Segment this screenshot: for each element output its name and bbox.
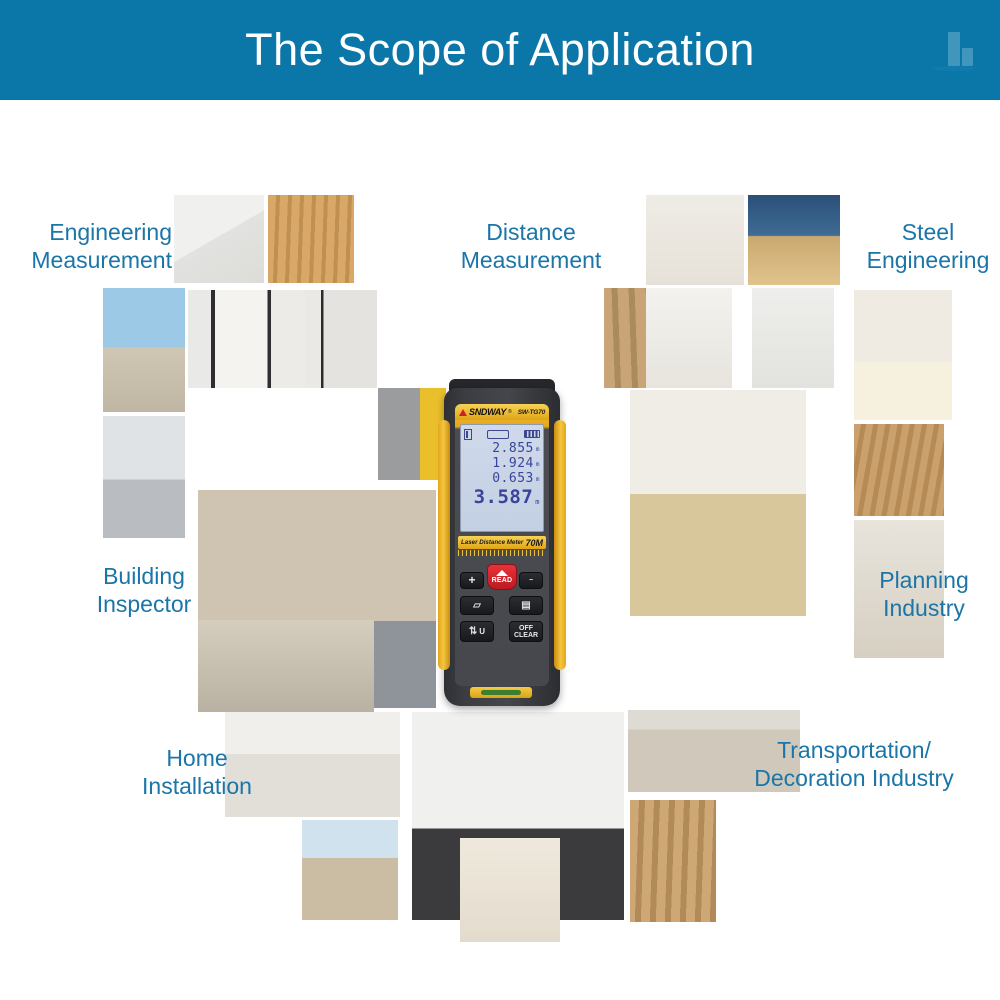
photo-worker-truss-outdoors: [103, 288, 185, 412]
device-brand-bar: SNDWAY ® SW-TG70: [455, 404, 549, 420]
lcd-indicator-row: [464, 427, 540, 441]
lcd-reading-3-value: 0.653: [492, 471, 534, 486]
photo-worker-measuring-floor-2: [198, 620, 374, 712]
photo-man-level-board: [174, 195, 264, 283]
photo-collage: Engineering Measurement Distance Measure…: [0, 100, 1000, 1000]
photo-man-level-roof: [302, 820, 398, 920]
lcd-reading-1: 2.855 m: [464, 441, 540, 456]
reference-point-icon: [464, 429, 472, 440]
lcd-reading-main-value: 3.587: [474, 486, 534, 508]
photo-white-interior-doors: [188, 290, 316, 388]
device-left-grip: [438, 420, 450, 670]
bubble-level-indicator: [470, 687, 532, 698]
lcd-reading-main-unit: m: [535, 496, 540, 508]
volume-mode-icon: [487, 430, 509, 439]
lcd-reading-3-unit: m: [536, 474, 540, 486]
area-volume-button[interactable]: ▱: [460, 596, 494, 615]
device-keypad: + READ − ▱ ▤ ⇅ U OFF CLEAR: [455, 564, 549, 658]
bar-chart-logo-icon: [930, 26, 978, 72]
photo-older-man-sawing: [854, 290, 952, 420]
unit-button-label: U: [479, 628, 485, 635]
off-clear-button[interactable]: OFF CLEAR: [509, 621, 543, 642]
device-product-name: Laser Distance Meter: [461, 539, 523, 546]
device-range-label: 70M: [525, 538, 543, 548]
photo-bright-window-room: [646, 288, 732, 388]
read-triangle-icon: [496, 570, 508, 576]
photo-man-yellow-hardhat-bottom: [460, 838, 560, 942]
lcd-reading-2-value: 1.924: [492, 456, 534, 471]
minus-button[interactable]: −: [519, 572, 543, 589]
device-model-number: SW-TG70: [518, 409, 545, 416]
photo-warehouse-inspector: [103, 416, 185, 538]
lcd-reading-1-value: 2.855: [492, 441, 534, 456]
laser-distance-meter-device: SNDWAY ® SW-TG70 2.855 m 1.924 m: [444, 388, 560, 706]
label-steel-engineering: Steel Engineering: [856, 218, 1000, 274]
device-scale-strip: [458, 550, 546, 556]
area-volume-icon: ▱: [473, 602, 481, 609]
photo-woman-measuring-plank: [630, 390, 806, 616]
plus-button[interactable]: +: [460, 572, 484, 589]
photo-builder-on-ladder: [630, 800, 716, 922]
photo-man-framing-tape: [268, 195, 354, 283]
label-engineering-measurement: Engineering Measurement: [0, 218, 172, 274]
label-distance-measurement: Distance Measurement: [420, 218, 642, 274]
sndway-logo-icon: [459, 409, 467, 416]
photo-hardhat-measuring-wall: [305, 290, 377, 388]
photo-man-installing-window: [646, 195, 744, 285]
label-planning-industry: Planning Industry: [848, 566, 1000, 622]
photo-hivis-worker-crouching: [752, 288, 834, 388]
registered-mark: ®: [508, 409, 512, 415]
label-building-inspector: Building Inspector: [54, 562, 234, 618]
unit-reference-button[interactable]: ⇅ U: [460, 621, 494, 642]
page-title: The Scope of Application: [245, 24, 755, 76]
lcd-reading-2-unit: m: [536, 459, 540, 471]
photo-wood-grain-panel: [854, 424, 944, 516]
photo-closeup-yellow-level: [378, 388, 446, 480]
read-button[interactable]: READ: [487, 564, 517, 590]
label-transportation-decoration-industry: Transportation/ Decoration Industry: [726, 736, 982, 792]
battery-icon: [524, 430, 540, 438]
device-brand-name: SNDWAY: [469, 407, 506, 417]
lcd-reading-3: 0.653 m: [464, 471, 540, 486]
lcd-reading-main: 3.587 m: [464, 486, 540, 508]
device-right-grip: [554, 420, 566, 670]
infographic-page: The Scope of Application: [0, 0, 1000, 1000]
device-name-strip: Laser Distance Meter 70M: [458, 536, 546, 549]
unit-reference-icon: ⇅: [469, 628, 477, 635]
save-button[interactable]: ▤: [509, 596, 543, 615]
photo-carpenter-red-shirt: [748, 195, 840, 285]
lcd-reading-1-unit: m: [536, 444, 540, 456]
save-icon: ▤: [521, 602, 530, 609]
device-lcd-screen: 2.855 m 1.924 m 0.653 m 3.587 m: [460, 424, 544, 532]
lcd-reading-2: 1.924 m: [464, 456, 540, 471]
label-home-installation: Home Installation: [110, 744, 284, 800]
read-button-label: READ: [492, 577, 513, 584]
page-header: The Scope of Application: [0, 0, 1000, 100]
